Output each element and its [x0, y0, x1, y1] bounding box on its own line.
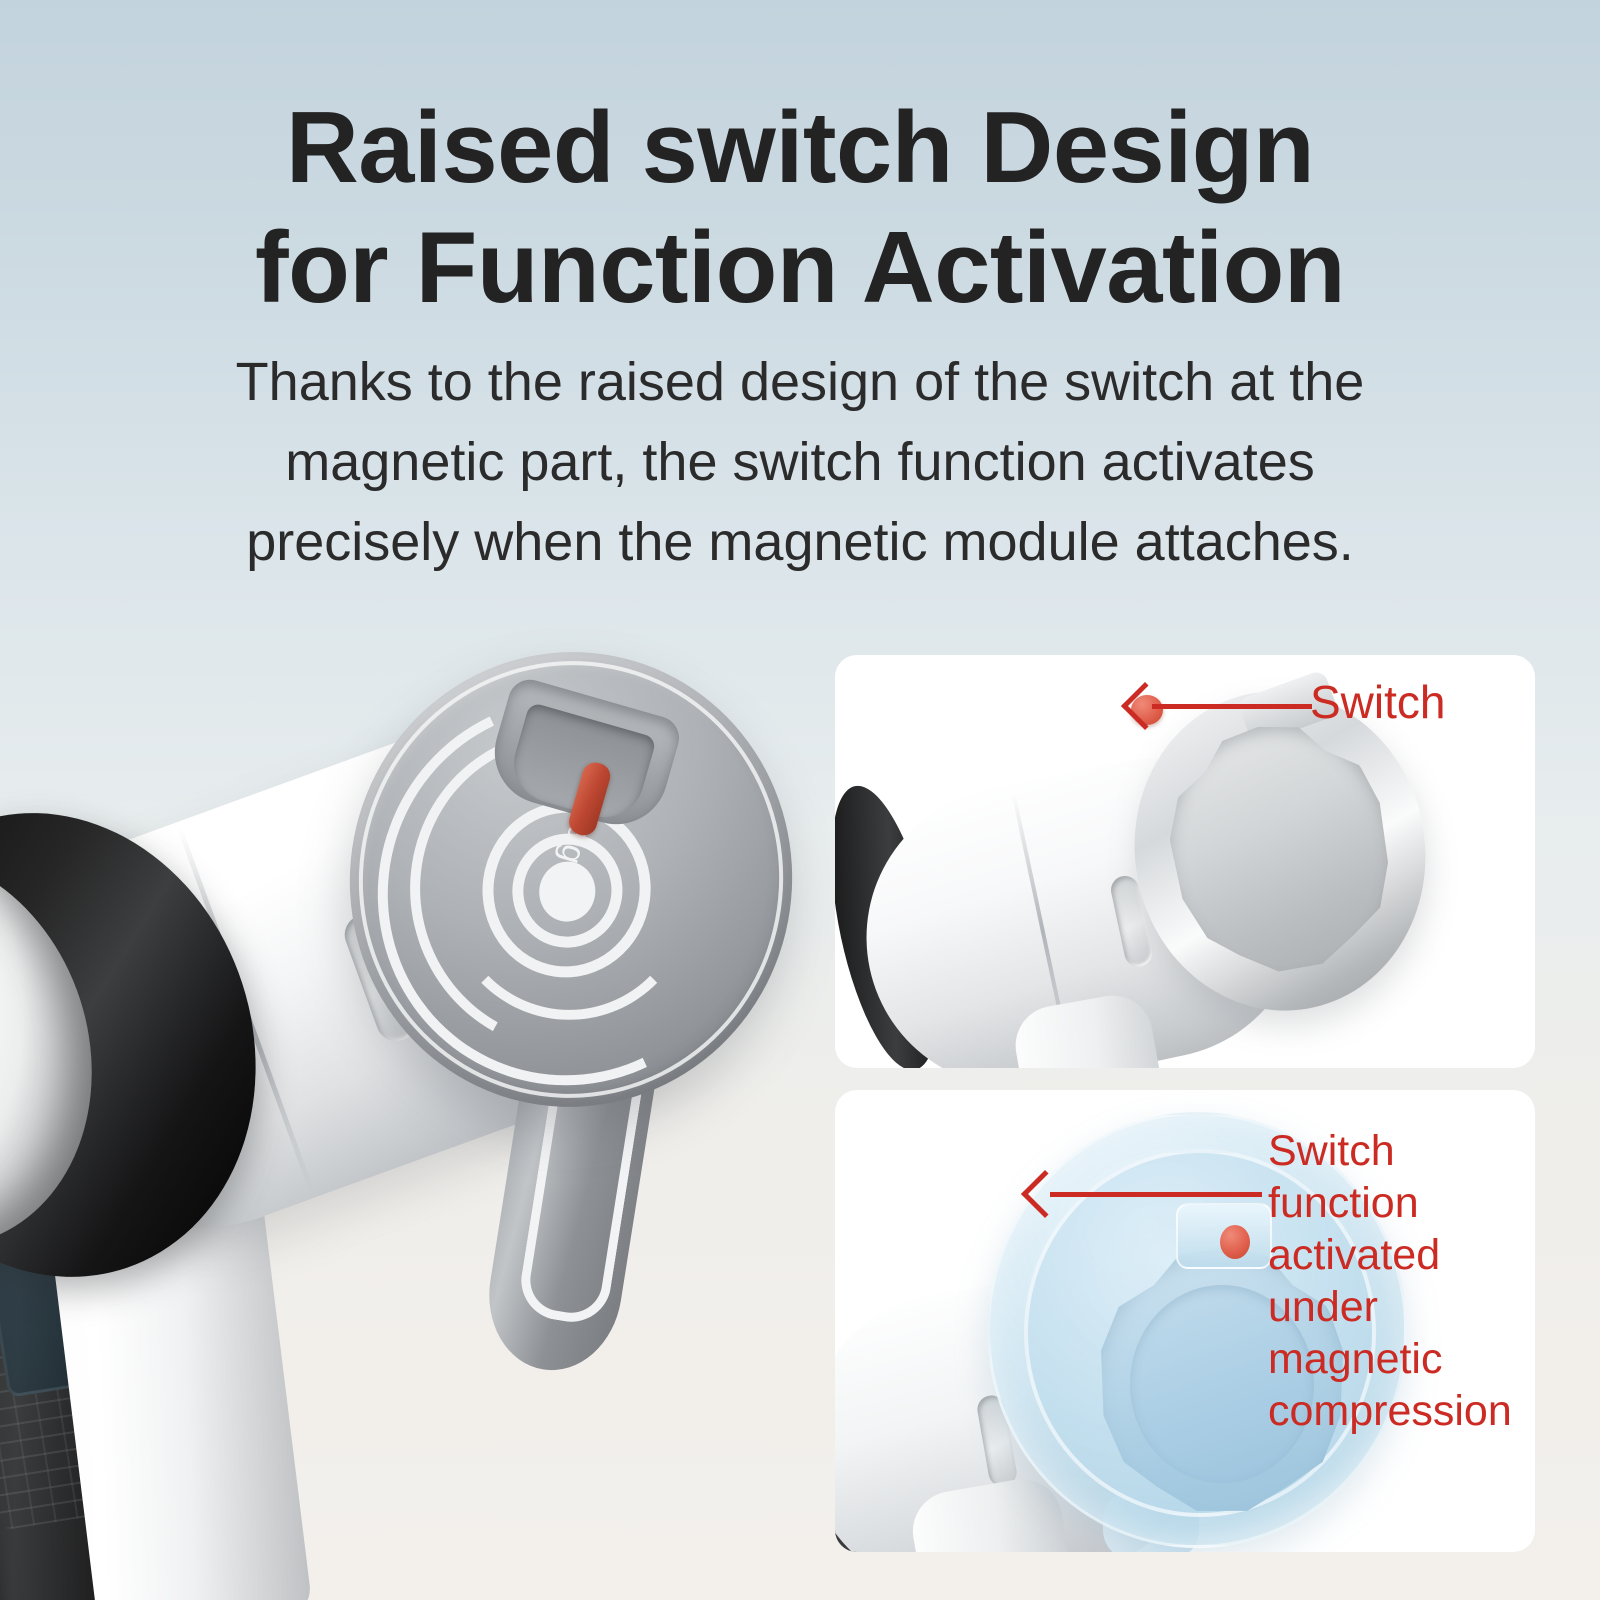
callout-label-compression: Switch function activated under magnetic… [1268, 1125, 1512, 1437]
subtitle-line-3: precisely when the magnetic module attac… [140, 502, 1460, 582]
headline-line-2: for Function Activation [0, 208, 1600, 328]
page-subtitle: Thanks to the raised design of the switc… [140, 342, 1460, 582]
callout-label-switch: Switch [1310, 676, 1445, 728]
panel-top-magnet-face [1149, 708, 1411, 995]
callout-line-top [1152, 704, 1312, 709]
page-title: Raised switch Design for Function Activa… [0, 88, 1600, 328]
product-infographic: Raised switch Design for Function Activa… [0, 0, 1600, 1600]
magnetic-module: aMagisn [350, 652, 792, 1122]
magnetic-module-disc: aMagisn [320, 623, 821, 1135]
panel-bottom-switch-dot [1220, 1225, 1250, 1259]
headline-line-1: Raised switch Design [0, 88, 1600, 208]
callout-line-bottom [1050, 1192, 1262, 1197]
subtitle-line-2: magnetic part, the switch function activ… [140, 422, 1460, 502]
hero-product-image: aMagisn [0, 600, 870, 1600]
subtitle-line-1: Thanks to the raised design of the switc… [140, 342, 1460, 422]
